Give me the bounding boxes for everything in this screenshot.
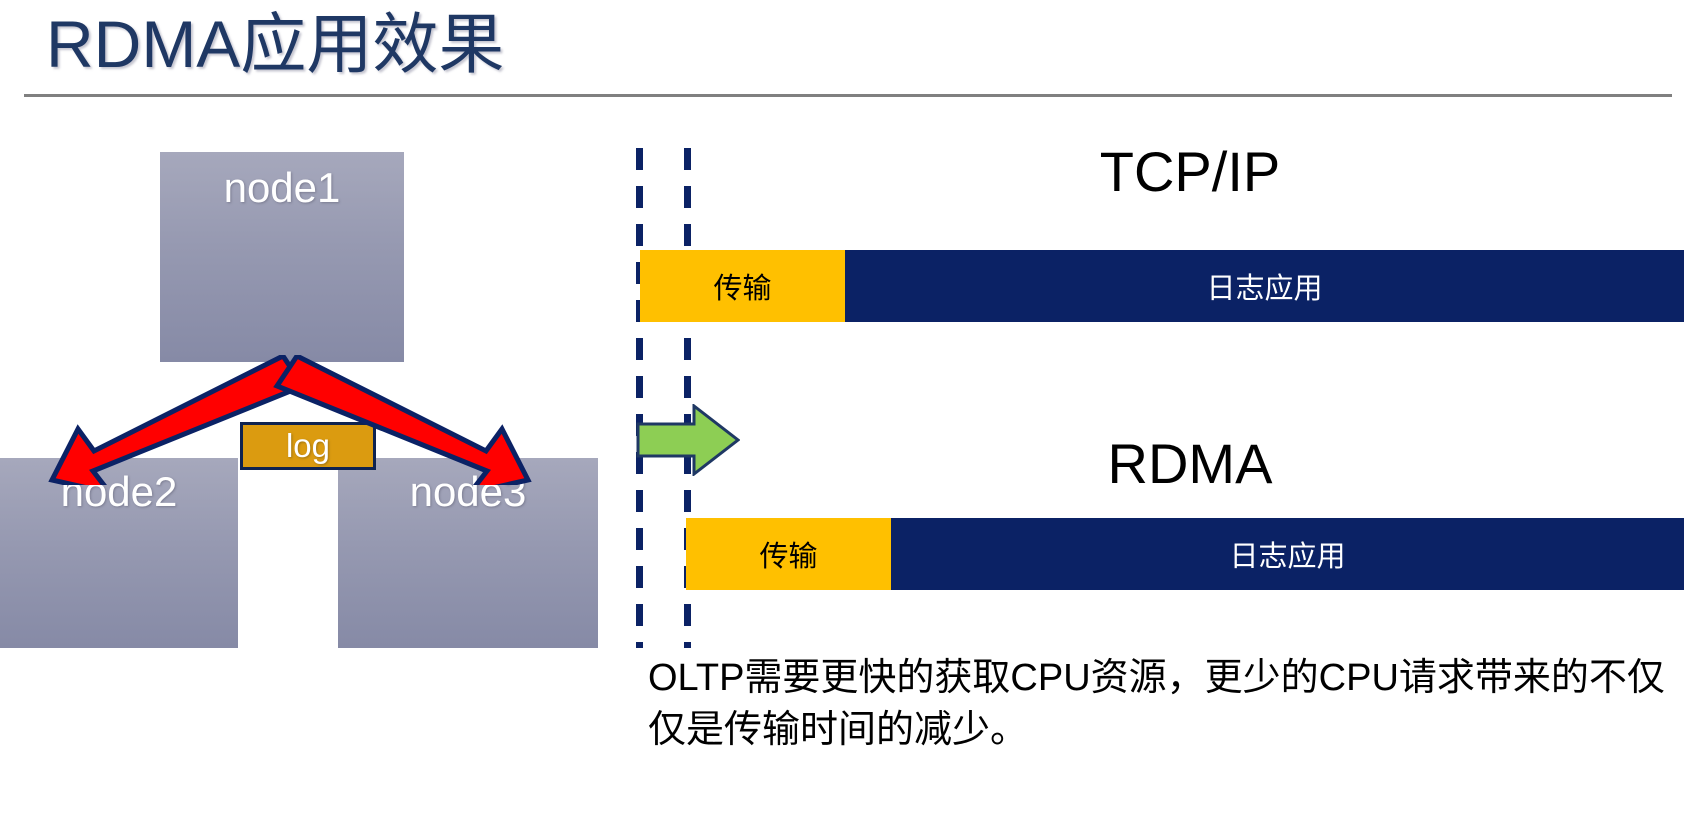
rdma-transfer-segment: 传输 — [686, 518, 891, 590]
tcpip-transfer-segment: 传输 — [640, 250, 845, 322]
tcpip-application-segment: 日志应用 — [845, 250, 1684, 322]
rdma-application-segment: 日志应用 — [891, 518, 1684, 590]
green-right-arrow — [636, 404, 740, 476]
timeline-dashed-line-start — [636, 148, 643, 648]
tcpip-bar: 传输 日志应用 — [640, 250, 1684, 322]
page-title: RDMA应用效果 — [46, 4, 504, 84]
tcpip-label: TCP/IP — [860, 140, 1520, 204]
rdma-label: RDMA — [860, 432, 1520, 496]
title-divider — [24, 94, 1672, 97]
node-box-node1: node1 — [160, 152, 404, 362]
slide-canvas: RDMA应用效果 node1 node2 node3 log TCP/IP 传输… — [0, 0, 1696, 826]
log-box: log — [240, 422, 376, 470]
rdma-bar: 传输 日志应用 — [686, 518, 1684, 590]
caption-text: OLTP需要更快的获取CPU资源，更少的CPU请求带来的不仅仅是传输时间的减少。 — [648, 652, 1678, 756]
node-box-node3: node3 — [338, 458, 598, 648]
node-box-node2: node2 — [0, 458, 238, 648]
